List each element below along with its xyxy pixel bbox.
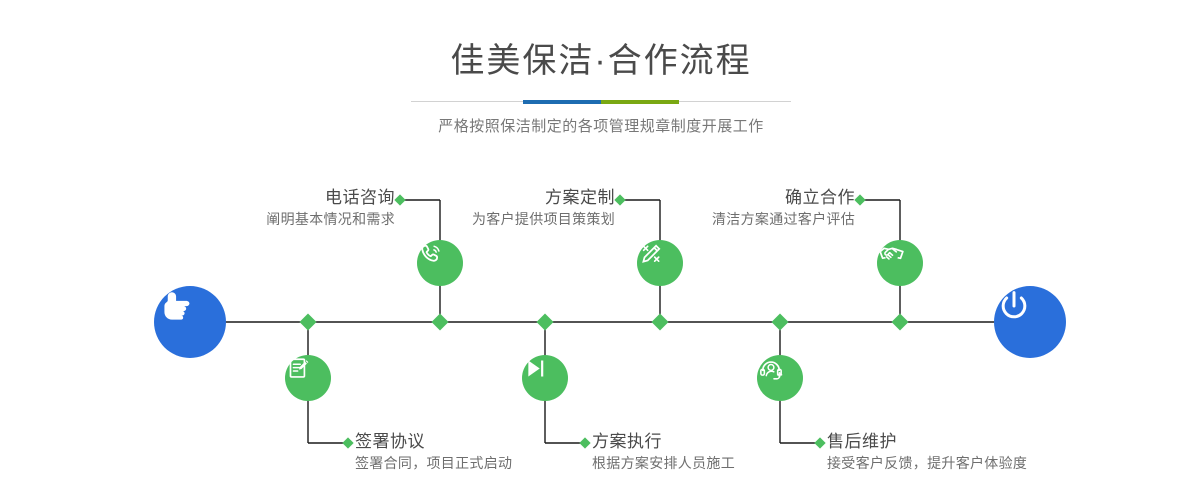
- power-icon: [994, 286, 1034, 326]
- label-diamond: [854, 194, 865, 205]
- document-pen-icon: [285, 355, 312, 382]
- step-node-phone-consult[interactable]: [417, 240, 463, 286]
- step-node-after-sales[interactable]: [757, 355, 803, 401]
- step-desc: 接受客户反馈，提升客户体验度: [827, 453, 1147, 474]
- step-title: 售后维护: [827, 430, 1147, 453]
- step-node-sign-agreement[interactable]: [285, 355, 331, 401]
- timeline-diamond: [432, 314, 449, 331]
- timeline-diamond: [772, 314, 789, 331]
- label-diamond: [342, 437, 353, 448]
- step-node-plan-customize[interactable]: [637, 240, 683, 286]
- timeline-diamond: [652, 314, 669, 331]
- step-label-after-sales: 售后维护 接受客户反馈，提升客户体验度: [827, 430, 1147, 474]
- step-label-establish-cooperation: 确立合作 清洁方案通过客户评估: [550, 186, 855, 230]
- pencil-design-icon: [637, 240, 665, 268]
- handshake-icon: [877, 240, 906, 269]
- flow-end-node[interactable]: [994, 286, 1066, 358]
- step-node-establish-cooperation[interactable]: [877, 240, 923, 286]
- pointing-hand-icon: [154, 286, 194, 326]
- play-skip-icon: [522, 355, 549, 382]
- cooperation-flow-diagram: 电话咨询 阐明基本情况和需求 方案定制 为客户提供项目策策划 确立合作 清洁方案…: [0, 0, 1202, 502]
- flow-start-node[interactable]: [154, 286, 226, 358]
- step-title: 确立合作: [550, 186, 855, 209]
- timeline-diamond: [537, 314, 554, 331]
- step-node-plan-execution[interactable]: [522, 355, 568, 401]
- headset-support-icon: [757, 355, 785, 383]
- phone-call-icon: [417, 240, 445, 268]
- flow-connectors: [0, 0, 1202, 502]
- step-desc: 清洁方案通过客户评估: [550, 209, 855, 230]
- timeline-diamond: [892, 314, 909, 331]
- timeline-diamond: [300, 314, 317, 331]
